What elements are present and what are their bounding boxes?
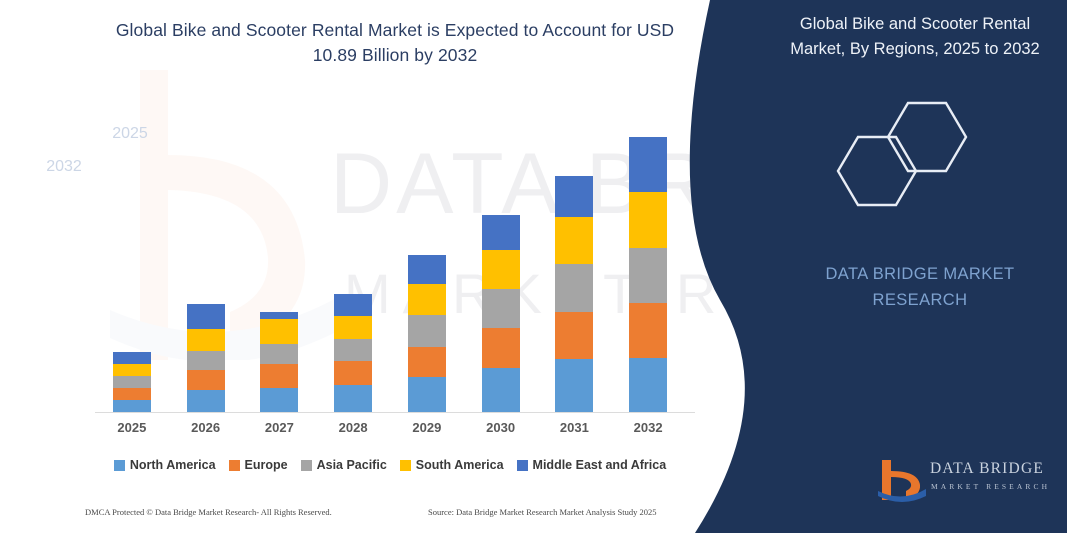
side-panel-title: Global Bike and Scooter Rental Market, B… — [780, 12, 1050, 62]
bar-segment — [113, 400, 151, 412]
legend-item[interactable]: Europe — [229, 458, 288, 472]
side-panel-brand: DATA BRIDGE MARKET RESEARCH — [790, 262, 1050, 313]
bar-column — [101, 110, 163, 412]
x-axis-tick-label: 2028 — [322, 420, 384, 442]
bar-segment — [187, 329, 225, 351]
bar-column — [322, 110, 384, 412]
bar-segment — [187, 390, 225, 412]
bar-segment — [408, 255, 446, 284]
x-axis-tick-label: 2027 — [248, 420, 310, 442]
footer-copyright: DMCA Protected © Data Bridge Market Rese… — [85, 507, 332, 517]
bar-segment — [482, 250, 520, 289]
bar-segment — [260, 364, 298, 388]
legend-swatch — [114, 460, 125, 471]
hexagon-label-start-year: 2025 — [88, 125, 172, 143]
bar-segment — [260, 319, 298, 344]
bar-segment — [555, 359, 593, 412]
bar-segment — [482, 215, 520, 250]
bar-column — [248, 110, 310, 412]
bar-segment — [187, 351, 225, 370]
footer: DMCA Protected © Data Bridge Market Rese… — [0, 505, 760, 527]
chart-legend: North AmericaEuropeAsia PacificSouth Ame… — [95, 455, 685, 475]
x-axis-tick-label: 2026 — [175, 420, 237, 442]
chart-panel: DATA BRIDGE MARKET RESEARCH Global Bike … — [0, 0, 760, 533]
bar-segment — [482, 289, 520, 328]
logo-mark-icon — [878, 458, 926, 502]
hexagon-shapes-icon — [820, 95, 1020, 215]
bar-segment — [113, 388, 151, 400]
bar-segment — [334, 385, 372, 412]
bar-column — [175, 110, 237, 412]
bar-segment — [555, 176, 593, 217]
bar-segment — [408, 377, 446, 412]
bar-segment — [334, 294, 372, 316]
logo-tagline: MARKET RESEARCH — [931, 482, 1050, 491]
bar-column — [470, 110, 532, 412]
bar-segment — [113, 364, 151, 376]
legend-label: North America — [130, 458, 216, 472]
stacked-bar — [408, 255, 446, 412]
bar-segment — [187, 304, 225, 329]
legend-label: South America — [416, 458, 504, 472]
stacked-bar — [187, 304, 225, 412]
bar-segment — [260, 344, 298, 364]
bar-segment — [334, 361, 372, 385]
bar-segment — [408, 284, 446, 315]
bar-segment — [555, 217, 593, 264]
bar-column — [396, 110, 458, 412]
x-axis-tick-label: 2030 — [470, 420, 532, 442]
legend-swatch — [400, 460, 411, 471]
bar-segment — [113, 376, 151, 388]
infographic-canvas: DATA BRIDGE MARKET RESEARCH Global Bike … — [0, 0, 1067, 533]
company-logo: DATA BRIDGE MARKET RESEARCH — [878, 458, 1063, 502]
bar-segment — [408, 315, 446, 347]
bar-segment — [334, 339, 372, 361]
legend-item[interactable]: Asia Pacific — [301, 458, 387, 472]
x-axis-tick-label: 2029 — [396, 420, 458, 442]
logo-company-name: DATA BRIDGE — [930, 460, 1044, 478]
stacked-bar — [260, 312, 298, 412]
stacked-bar — [113, 352, 151, 412]
legend-label: Middle East and Africa — [533, 458, 667, 472]
bar-column — [543, 110, 605, 412]
bar-chart-plot — [95, 110, 685, 412]
legend-item[interactable]: North America — [114, 458, 216, 472]
legend-item[interactable]: Middle East and Africa — [517, 458, 667, 472]
x-axis-tick-label: 2031 — [543, 420, 605, 442]
hexagon-group — [820, 95, 1020, 215]
x-axis-tick-label: 2025 — [101, 420, 163, 442]
legend-swatch — [517, 460, 528, 471]
hexagon-label-end-year: 2032 — [22, 158, 106, 176]
page-title: Global Bike and Scooter Rental Market is… — [95, 18, 695, 69]
bar-segment — [260, 312, 298, 319]
x-axis-line — [95, 412, 695, 413]
legend-swatch — [301, 460, 312, 471]
stacked-bar — [482, 215, 520, 412]
bar-segment — [187, 370, 225, 390]
legend-label: Asia Pacific — [317, 458, 387, 472]
bar-segment — [334, 316, 372, 339]
legend-item[interactable]: South America — [400, 458, 504, 472]
bar-segment — [260, 388, 298, 412]
bar-segment — [482, 368, 520, 412]
bar-segment — [408, 347, 446, 377]
bar-segment — [113, 352, 151, 364]
stacked-bar — [334, 294, 372, 412]
legend-swatch — [229, 460, 240, 471]
bar-segment — [555, 312, 593, 359]
footer-source: Source: Data Bridge Market Research Mark… — [428, 507, 657, 517]
bar-segment — [555, 264, 593, 312]
legend-label: Europe — [245, 458, 288, 472]
x-axis-labels: 20252026202720282029203020312032 — [95, 420, 685, 442]
bar-segment — [482, 328, 520, 368]
stacked-bar — [555, 176, 593, 412]
